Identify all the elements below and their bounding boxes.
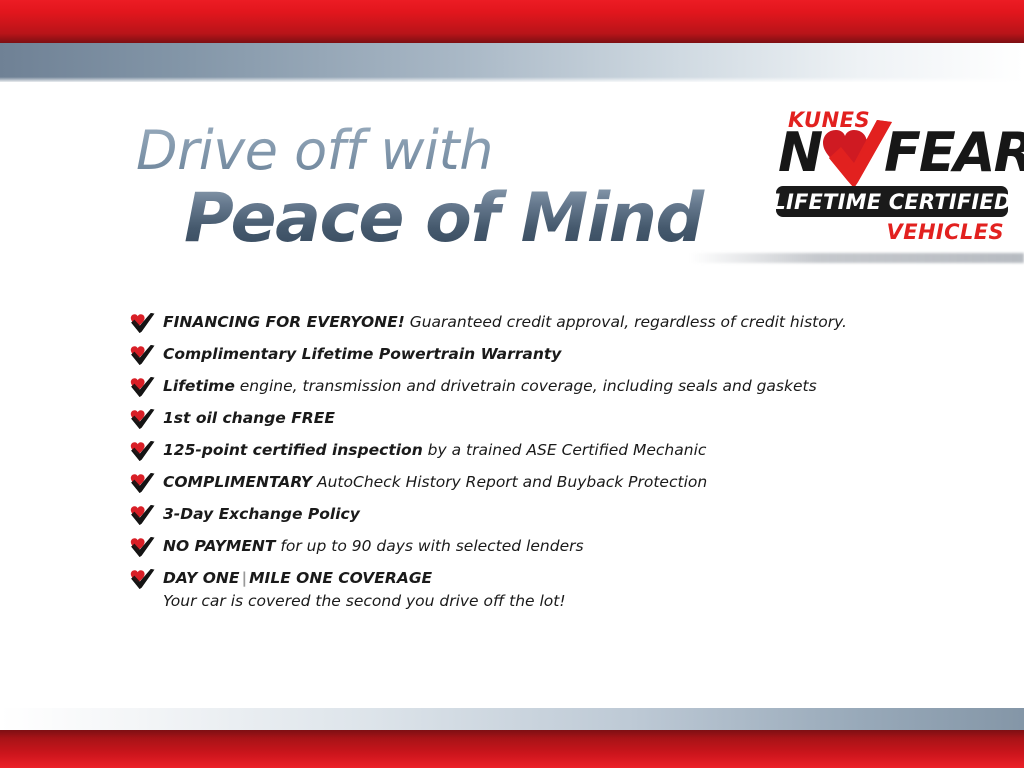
list-item-strong: DAY ONE	[163, 569, 239, 587]
kunes-no-fear-logo: KUNES N FEAR LIFETIME CERTIFIED VEHICLES	[776, 108, 1010, 250]
headline-line-1: Drive off with	[136, 122, 776, 180]
bottom-red-band	[0, 730, 1024, 768]
list-item-text: 125-point certified inspection by a trai…	[163, 441, 706, 459]
list-item-strong: 1st oil change FREE	[163, 409, 335, 427]
list-item-text: 3-Day Exchange Policy	[163, 505, 360, 523]
logo-word-fear: FEAR	[884, 126, 1024, 180]
list-item: 1st oil change FREE	[130, 407, 950, 433]
list-item-rest: by a trained ASE Certified Mechanic	[423, 441, 707, 459]
list-item-rest: Guaranteed credit approval, regardless o…	[405, 313, 847, 331]
heart-check-bullet-icon	[130, 537, 156, 557]
list-item-text: Complimentary Lifetime Powertrain Warran…	[163, 345, 561, 363]
heart-check-bullet-icon	[130, 505, 156, 525]
headline-block: Drive off with Peace of Mind	[136, 122, 776, 256]
list-item: 3-Day Exchange Policy	[130, 503, 950, 529]
heart-check-bullet-icon	[130, 569, 156, 589]
list-item-strong: NO PAYMENT	[163, 537, 275, 555]
list-item-subline: Your car is covered the second you drive…	[163, 590, 950, 612]
list-item-rest: AutoCheck History Report and Buyback Pro…	[312, 473, 707, 491]
promo-banner: Drive off with Peace of Mind KUNES N FEA…	[0, 0, 1024, 768]
list-item: DAY ONE|MILE ONE COVERAGE Your car is co…	[130, 567, 950, 612]
logo-footer-vehicles: VEHICLES	[887, 220, 1004, 244]
list-item-text: Lifetime engine, transmission and drivet…	[163, 377, 817, 395]
list-item-text: NO PAYMENT for up to 90 days with select…	[163, 537, 584, 555]
logo-wordmark: N FEAR	[776, 126, 1010, 184]
top-red-band	[0, 0, 1024, 43]
list-item-separator: |	[239, 569, 249, 587]
list-item: COMPLIMENTARY AutoCheck History Report a…	[130, 471, 950, 497]
list-item-rest: engine, transmission and drivetrain cove…	[235, 377, 817, 395]
heart-check-bullet-icon	[130, 409, 156, 429]
list-item-text: DAY ONE|MILE ONE COVERAGE	[163, 569, 432, 587]
top-gray-gradient-band	[0, 43, 1024, 82]
list-item-strong: Complimentary Lifetime Powertrain Warran…	[163, 345, 561, 363]
list-item-text: 1st oil change FREE	[163, 409, 335, 427]
list-item-strong: COMPLIMENTARY	[163, 473, 312, 491]
list-item-strong: 3-Day Exchange Policy	[163, 505, 360, 523]
list-item-strong-secondary: MILE ONE COVERAGE	[249, 569, 432, 587]
list-item: Lifetime engine, transmission and drivet…	[130, 375, 950, 401]
list-item-strong: 125-point certified inspection	[163, 441, 423, 459]
heart-check-bullet-icon	[130, 441, 156, 461]
heart-check-bullet-icon	[130, 377, 156, 397]
list-item-strong: Lifetime	[163, 377, 235, 395]
list-item-text: FINANCING FOR EVERYONE! Guaranteed credi…	[163, 313, 847, 331]
header-divider-shadow	[690, 253, 1024, 263]
heart-check-bullet-icon	[130, 345, 156, 365]
headline-line-2: Peace of Mind	[136, 182, 776, 256]
list-item-rest: for up to 90 days with selected lenders	[275, 537, 583, 555]
list-item: Complimentary Lifetime Powertrain Warran…	[130, 343, 950, 369]
list-item: 125-point certified inspection by a trai…	[130, 439, 950, 465]
logo-lifetime-certified-bar: LIFETIME CERTIFIED	[776, 186, 1008, 217]
bottom-gray-gradient-band	[0, 708, 1024, 730]
heart-check-bullet-icon	[130, 473, 156, 493]
heart-check-bullet-icon	[130, 313, 156, 333]
list-item-text: COMPLIMENTARY AutoCheck History Report a…	[163, 473, 707, 491]
benefits-list: FINANCING FOR EVERYONE! Guaranteed credi…	[130, 311, 950, 618]
list-item: FINANCING FOR EVERYONE! Guaranteed credi…	[130, 311, 950, 337]
logo-bar-label: LIFETIME CERTIFIED	[772, 190, 1011, 214]
list-item-strong: FINANCING FOR EVERYONE!	[163, 313, 405, 331]
list-item: NO PAYMENT for up to 90 days with select…	[130, 535, 950, 561]
